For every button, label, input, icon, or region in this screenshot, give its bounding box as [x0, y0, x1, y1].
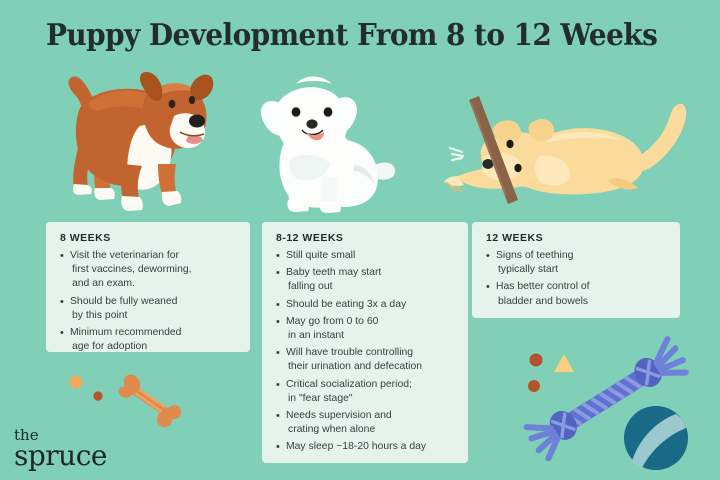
bullet-icon: • — [276, 298, 280, 312]
brand-logo: the spruce — [14, 428, 107, 469]
bullet-icon: • — [276, 440, 280, 454]
cream-puppy-chewing-stick-illustration — [432, 92, 718, 216]
bullet-line: bladder and bowels — [496, 295, 668, 309]
bullet-line: May sleep ~18-20 hours a day — [286, 441, 426, 452]
list-item: • Critical socialization period; in "fea… — [275, 378, 456, 406]
bullet-icon: • — [60, 249, 64, 263]
card-heading: 8 WEEKS — [60, 232, 238, 244]
bullet-line: and an exam. — [70, 277, 238, 291]
card-heading: 8-12 WEEKS — [276, 232, 456, 244]
list-item: • Needs supervision and crating when alo… — [275, 409, 456, 437]
bullet-line: Signs of teething — [496, 250, 573, 261]
card-heading: 12 WEEKS — [486, 232, 668, 244]
list-item: • Should be fully weaned by this point — [59, 295, 238, 323]
bullet-line: in an instant — [286, 329, 456, 343]
bullet-line: Visit the veterinarian for — [70, 250, 179, 261]
list-item: • Signs of teething typically start — [485, 249, 668, 277]
list-item: • Visit the veterinarian for first vacci… — [59, 249, 238, 292]
list-item: • May go from 0 to 60 in an instant — [275, 315, 456, 343]
list-item: • Will have trouble controlling their ur… — [275, 346, 456, 374]
stage-card-8-weeks: 8 WEEKS • Visit the veterinarian for fir… — [46, 222, 250, 352]
logo-line-spruce: spruce — [14, 442, 107, 469]
bullet-icon: • — [486, 249, 490, 263]
white-puppy-sitting-illustration — [248, 62, 398, 217]
bullet-line: Critical socialization period; — [286, 379, 412, 390]
bullet-line: Minimum recommended — [70, 327, 181, 338]
bullet-line: their urination and defecation — [286, 360, 456, 374]
bullet-line: in "fear stage" — [286, 392, 456, 406]
infographic-canvas: Puppy Development From 8 to 12 Weeks — [0, 0, 720, 480]
card-bullet-list: • Still quite small • Baby teeth may sta… — [275, 249, 456, 455]
bullet-icon: • — [276, 249, 280, 263]
bullet-icon: • — [276, 315, 280, 329]
bullet-icon: • — [276, 409, 280, 423]
bullet-line: Still quite small — [286, 250, 355, 261]
bullet-line: Should be fully weaned — [70, 296, 177, 307]
stage-card-12-weeks: 12 WEEKS • Signs of teething typically s… — [472, 222, 680, 318]
card-bullet-list: • Signs of teething typically start • Ha… — [485, 249, 668, 309]
bullet-icon: • — [60, 326, 64, 340]
bullet-line: Should be eating 3x a day — [286, 299, 406, 310]
bullet-icon: • — [276, 378, 280, 392]
bullet-icon: • — [60, 295, 64, 309]
bullet-line: Needs supervision and — [286, 410, 392, 421]
list-item: • Baby teeth may start falling out — [275, 266, 456, 294]
bullet-line: May go from 0 to 60 — [286, 316, 378, 327]
bullet-line: typically start — [496, 263, 668, 277]
bullet-icon: • — [276, 346, 280, 360]
list-item: • Minimum recommended age for adoption — [59, 326, 238, 354]
dog-toys-illustration — [494, 338, 720, 480]
bullet-line: Has better control of — [496, 281, 590, 292]
stage-card-8-12-weeks: 8-12 WEEKS • Still quite small • Baby te… — [262, 222, 468, 463]
bullet-line: first vaccines, deworming, — [70, 263, 238, 277]
bullet-line: age for adoption — [70, 340, 238, 354]
list-item: • May sleep ~18-20 hours a day — [275, 440, 456, 454]
bullet-line: falling out — [286, 280, 456, 294]
bone-treat-illustration — [64, 374, 184, 430]
bullet-icon: • — [486, 280, 490, 294]
bullet-line: crating when alone — [286, 423, 456, 437]
card-bullet-list: • Visit the veterinarian for first vacci… — [59, 249, 238, 354]
bullet-line: Will have trouble controlling — [286, 347, 413, 358]
list-item: • Still quite small — [275, 249, 456, 263]
page-title: Puppy Development From 8 to 12 Weeks — [46, 18, 641, 53]
brown-puppy-standing-illustration — [62, 52, 222, 217]
bullet-icon: • — [276, 266, 280, 280]
bullet-line: Baby teeth may start — [286, 267, 381, 278]
bullet-line: by this point — [70, 309, 238, 323]
list-item: • Should be eating 3x a day — [275, 298, 456, 312]
list-item: • Has better control of bladder and bowe… — [485, 280, 668, 308]
